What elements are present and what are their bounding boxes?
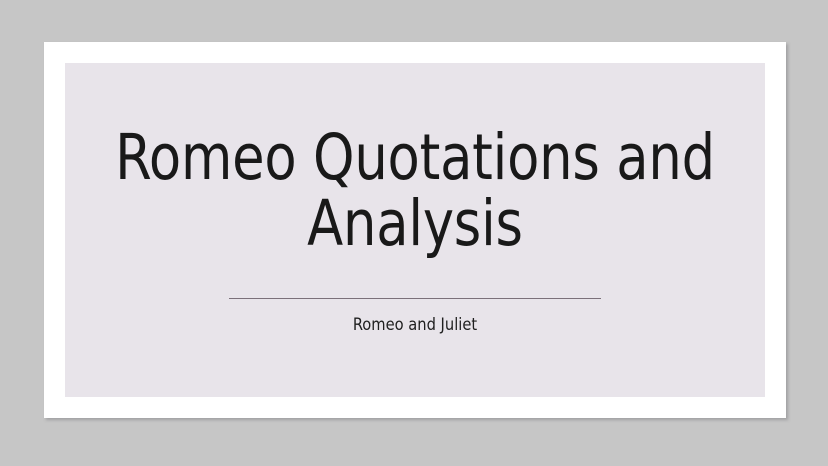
- slide-content-panel[interactable]: Romeo Quotations and Analysis Romeo and …: [65, 63, 765, 397]
- slide-workspace: Romeo Quotations and Analysis Romeo and …: [0, 0, 828, 466]
- slide-subtitle[interactable]: Romeo and Juliet: [79, 314, 751, 336]
- slide-title[interactable]: Romeo Quotations and Analysis: [90, 125, 741, 257]
- subtitle-placeholder[interactable]: Romeo and Juliet: [65, 314, 765, 336]
- slide-frame[interactable]: Romeo Quotations and Analysis Romeo and …: [44, 42, 786, 418]
- title-divider-rule: [229, 298, 601, 299]
- title-placeholder[interactable]: Romeo Quotations and Analysis: [65, 125, 765, 257]
